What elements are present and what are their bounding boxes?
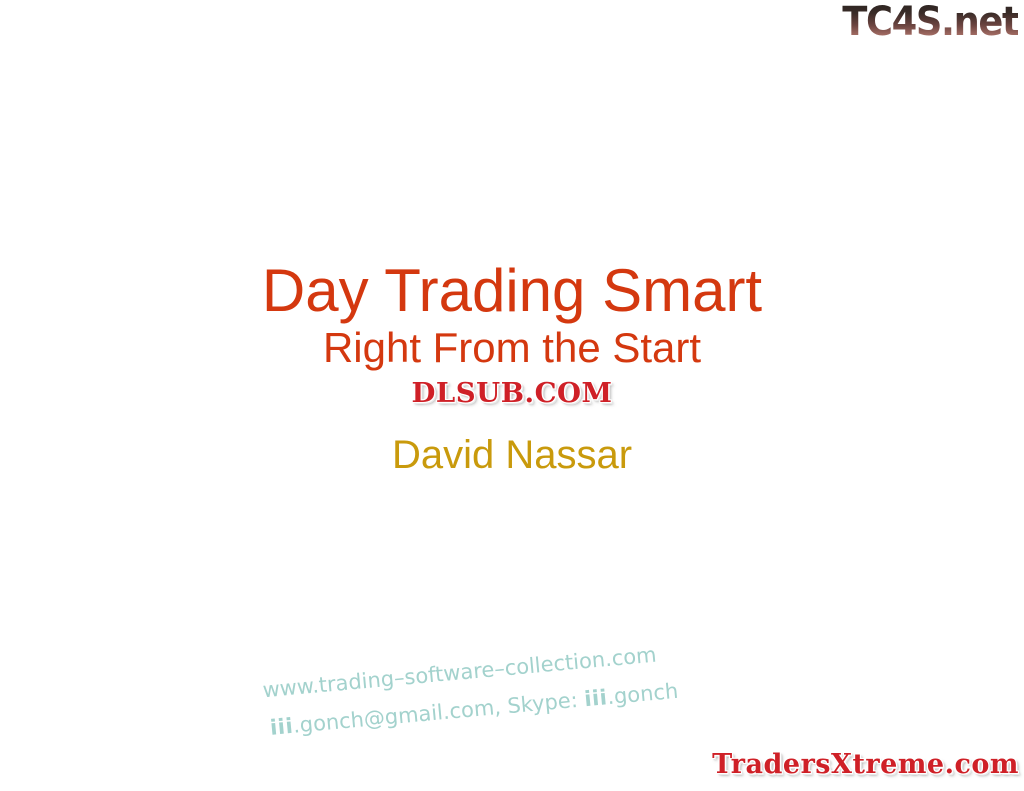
page-title: Day Trading Smart bbox=[0, 258, 1024, 324]
tradersxtreme-stamp: TradersXtreme.com bbox=[712, 750, 1019, 779]
watermark-mark-end: iii bbox=[583, 685, 608, 711]
dlsub-stamp-text: DLSUB.COM bbox=[411, 379, 612, 408]
dlsub-stamp: DLSUB.COM bbox=[0, 379, 1024, 408]
watermark-handle: .gonch bbox=[606, 679, 679, 709]
page-subtitle: Right From the Start bbox=[0, 324, 1024, 372]
slide-canvas: TC4S.net Day Trading Smart Right From th… bbox=[0, 0, 1024, 791]
source-watermark: www.trading–software–collection.com iii.… bbox=[255, 625, 780, 748]
watermark-mark-start: iii bbox=[269, 714, 294, 740]
author-name: David Nassar bbox=[0, 432, 1024, 478]
title-block: Day Trading Smart Right From the Start bbox=[0, 258, 1024, 372]
tc4s-brand-logo: TC4S.net bbox=[842, 2, 1018, 42]
